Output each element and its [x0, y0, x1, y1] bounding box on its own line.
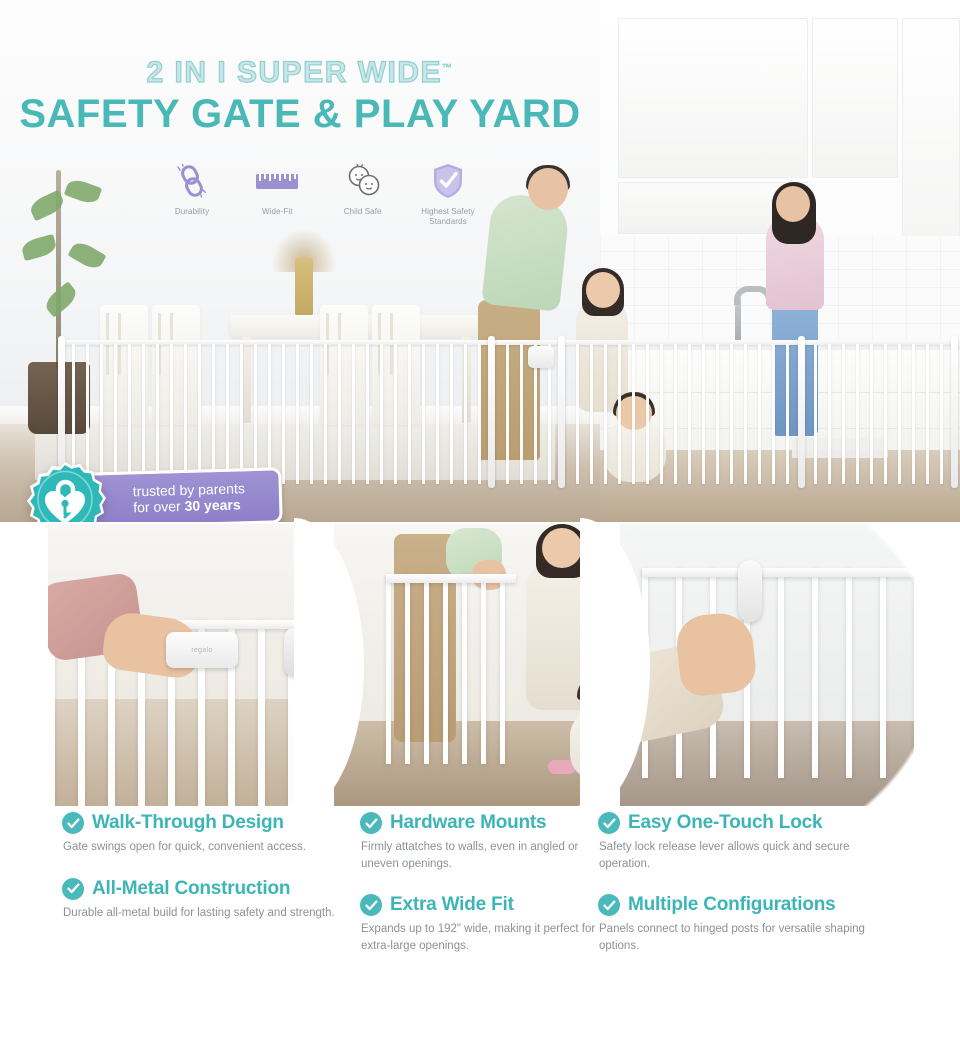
icon-cell-safety-standards: Highest Safety Standards: [406, 160, 490, 227]
gate-vertical-bars: [58, 344, 958, 484]
gate-vertical-bars: [386, 574, 516, 764]
gate-post: [951, 336, 958, 488]
icon-label: Highest Safety Standards: [406, 207, 490, 227]
gold-vase: [295, 258, 313, 316]
features-column-2: Hardware Mounts Firmly attatches to wall…: [360, 812, 600, 977]
feature-walk-through-design: Walk-Through Design Gate swings open for…: [62, 812, 352, 856]
badge-line-2: for over 30 years: [133, 495, 279, 515]
feature-heading: Multiple Configurations: [598, 894, 898, 916]
product-infographic-page: 2 IN I SUPER WIDE™ SAFETY GATE & PLAY YA…: [0, 0, 960, 1045]
check-circle-icon: [360, 812, 382, 834]
icon-cell-durability: Durability: [150, 160, 234, 217]
feature-hardware-mounts: Hardware Mounts Firmly attatches to wall…: [360, 812, 600, 872]
feature-title: All-Metal Construction: [92, 878, 290, 900]
upper-cabinet: [618, 18, 808, 178]
mother-head: [776, 186, 810, 222]
gate-top-rail: [642, 568, 920, 577]
chain-link-icon: [150, 160, 234, 202]
ruler-icon: [235, 160, 319, 202]
check-circle-icon: [598, 812, 620, 834]
check-circle-icon: [62, 878, 84, 900]
product-line-text: 2 IN I SUPER WIDE: [146, 56, 442, 89]
feature-title: Multiple Configurations: [628, 894, 836, 916]
icon-cell-child-safe: Child Safe: [321, 160, 405, 217]
features-column-3: Easy One-Touch Lock Safety lock release …: [598, 812, 898, 977]
feature-heading: Walk-Through Design: [62, 812, 352, 834]
badge-years: 30 years: [184, 496, 240, 514]
trademark-symbol: ™: [442, 63, 454, 74]
feature-description: Durable all-metal build for lasting safe…: [63, 905, 352, 922]
feature-heading: Hardware Mounts: [360, 812, 600, 834]
feature-easy-one-touch-lock: Easy One-Touch Lock Safety lock release …: [598, 812, 898, 872]
gate-post: [798, 336, 805, 488]
upper-cabinet-tall: [902, 18, 960, 258]
feature-icon-row: Durability: [150, 160, 490, 227]
panel-scene: [620, 524, 920, 806]
features-column-1: Walk-Through Design Gate swings open for…: [62, 812, 352, 943]
panel-arch-mask: [620, 524, 920, 806]
closeup-gate: [386, 574, 516, 764]
girl-head: [542, 528, 582, 568]
gate-post: [558, 336, 565, 488]
baby-faces-icon: [321, 160, 405, 202]
feature-title: Walk-Through Design: [92, 812, 284, 834]
feature-multiple-configurations: Multiple Configurations Panels connect t…: [598, 894, 898, 954]
panel-hinge-post-hand: [620, 524, 920, 806]
product-main-title: SAFETY GATE & PLAY YARD: [0, 93, 600, 135]
hero-title-block: 2 IN I SUPER WIDE™ SAFETY GATE & PLAY YA…: [0, 58, 600, 135]
product-line-title: 2 IN I SUPER WIDE™: [146, 58, 453, 88]
feature-heading: Extra Wide Fit: [360, 894, 600, 916]
girl-head: [586, 272, 620, 308]
icon-label: Child Safe: [321, 207, 405, 217]
feature-description: Firmly attatches to walls, even in angle…: [361, 839, 600, 872]
check-circle-icon: [360, 894, 382, 916]
hinged-post-connector: [738, 560, 762, 622]
hero-section: 2 IN I SUPER WIDE™ SAFETY GATE & PLAY YA…: [0, 0, 960, 522]
shield-check-icon: [406, 160, 490, 202]
father-torso: [481, 192, 570, 312]
icon-label: Wide-Fit: [235, 207, 319, 217]
badge-line-2-prefix: for over: [133, 498, 185, 515]
feature-description: Safety lock release lever allows quick a…: [599, 839, 898, 872]
gate-latch-closeup: regalo: [166, 632, 238, 668]
check-circle-icon: [62, 812, 84, 834]
upper-cabinet: [812, 18, 898, 178]
feature-title: Easy One-Touch Lock: [628, 812, 822, 834]
badge-ribbon: trusted by parents for over 30 years: [81, 467, 282, 522]
feature-extra-wide-fit: Extra Wide Fit Expands up to 192" wide, …: [360, 894, 600, 954]
father-head: [528, 168, 568, 210]
icon-label: Durability: [150, 207, 234, 217]
feature-title: Hardware Mounts: [390, 812, 546, 834]
features-section: Walk-Through Design Gate swings open for…: [0, 812, 960, 1045]
feature-description: Gate swings open for quick, convenient a…: [63, 839, 352, 856]
check-circle-icon: [598, 894, 620, 916]
feature-heading: All-Metal Construction: [62, 878, 352, 900]
gate-latch: [528, 346, 554, 368]
product-detail-panels: regalo: [0, 524, 960, 806]
feature-all-metal-construction: All-Metal Construction Durable all-metal…: [62, 878, 352, 922]
feature-description: Panels connect to hinged posts for versa…: [599, 921, 898, 954]
feature-title: Extra Wide Fit: [390, 894, 514, 916]
heart-padlock-icon: [24, 462, 106, 522]
gate-top-rail: [386, 574, 516, 583]
feature-description: Expands up to 192" wide, making it perfe…: [361, 921, 600, 954]
feature-heading: Easy One-Touch Lock: [598, 812, 898, 834]
hero-safety-gate: [58, 340, 958, 490]
icon-cell-wide-fit: Wide-Fit: [235, 160, 319, 217]
kitchen-faucet: [735, 296, 741, 342]
brand-logo: regalo: [191, 647, 212, 654]
gate-post: [488, 336, 495, 488]
